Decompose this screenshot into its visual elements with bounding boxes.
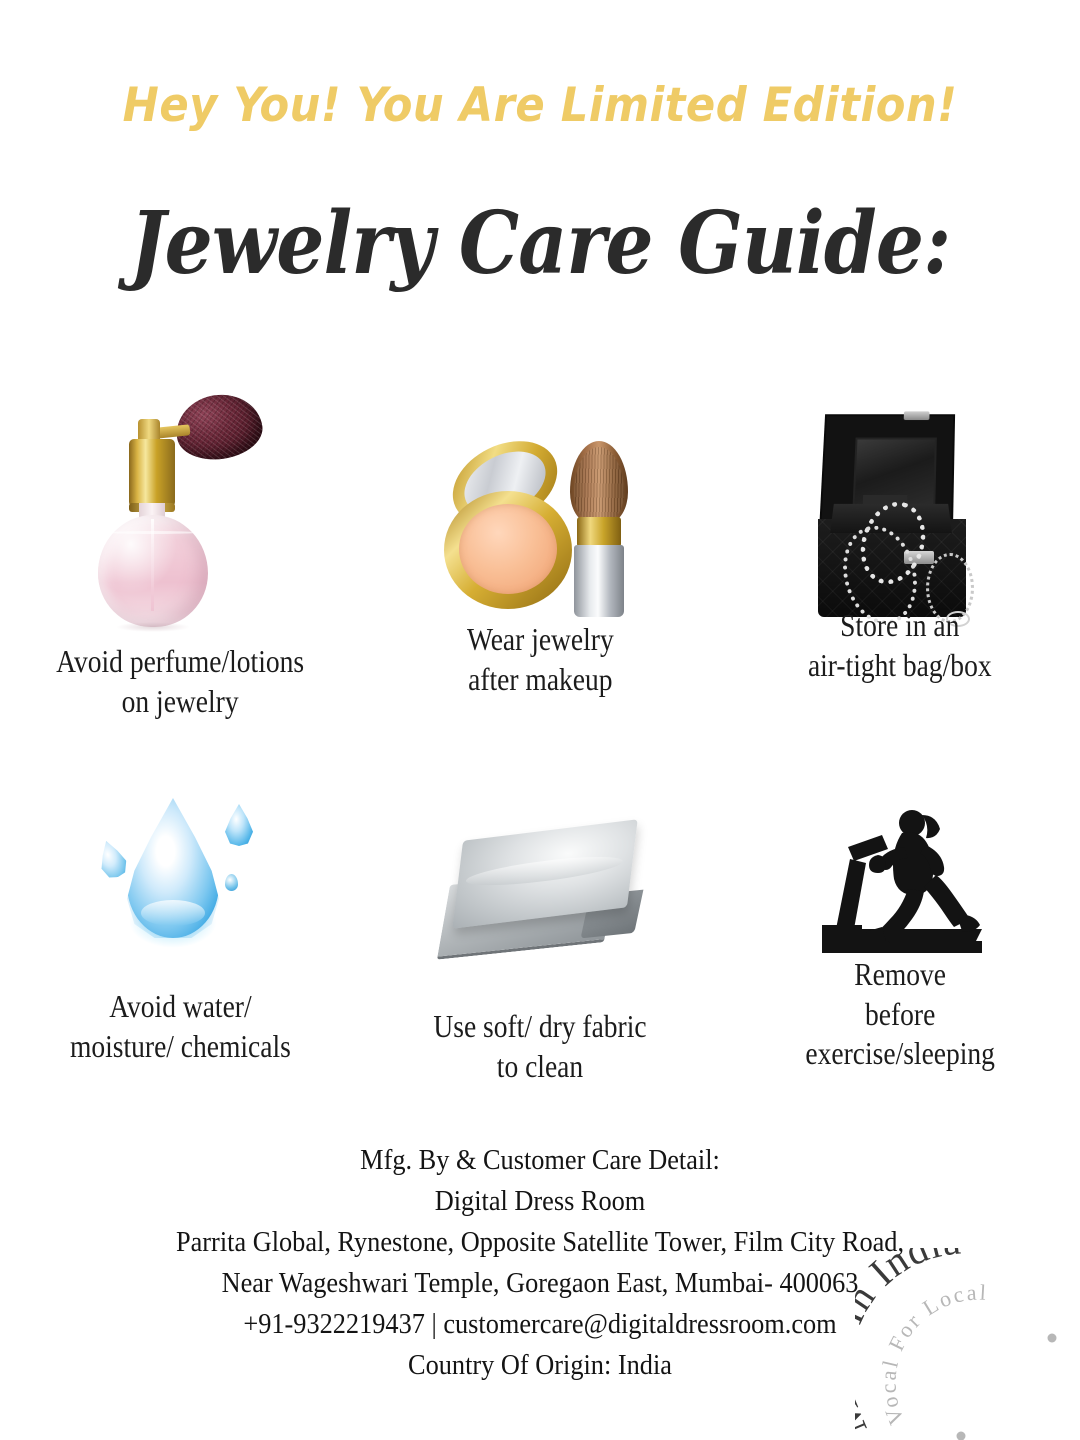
made-in-india-badge: Made In India Vocal For Local: [855, 1248, 1080, 1440]
compact-base: [444, 491, 572, 609]
brush-bristles: [570, 441, 628, 523]
treadmill-icon-wrap: [808, 788, 993, 963]
page-title: Jewelry Care Guide:: [65, 193, 1015, 294]
makeup-icon-wrap: [440, 378, 640, 628]
tip-card-exercise: Remove before exercise/sleeping: [720, 788, 1080, 1088]
water-droplet-small-3: [225, 874, 238, 891]
cloth-icon-wrap: [435, 788, 645, 963]
brush-gold-ferrule: [577, 517, 621, 547]
tip-card-water: Avoid water/ moisture/ chemicals: [0, 788, 360, 1088]
tip-caption: Avoid perfume/lotions on jewelry: [56, 642, 304, 721]
perfume-icon-wrap: [90, 378, 270, 628]
badge-dot-bottom: [957, 1432, 966, 1440]
water-icon-wrap: [85, 788, 275, 963]
jewelry-box-top-clasp: [904, 411, 930, 420]
makeup-brush-icon: [568, 441, 630, 616]
care-guide-poster: Hey You! You Are Limited Edition! Jewelr…: [0, 0, 1080, 1440]
brush-handle: [574, 545, 624, 617]
water-drop-main: [127, 798, 219, 938]
perfume-shadow: [116, 622, 190, 632]
tip-caption: Avoid water/ moisture/ chemicals: [70, 987, 291, 1066]
perfume-gold-collar: [129, 439, 175, 507]
svg-text:Vocal For Local: Vocal For Local: [875, 1279, 989, 1428]
tip-caption: Remove before exercise/sleeping: [805, 955, 994, 1074]
jewelry-box-icon: [800, 413, 1000, 628]
tip-card-cloth: Use soft/ dry fabric to clean: [360, 788, 720, 1088]
perfume-bottle-icon: [90, 393, 270, 628]
footer-line-mfg: Mfg. By & Customer Care Detail:: [32, 1140, 1047, 1181]
tip-caption: Wear jewelry after makeup: [467, 620, 614, 699]
badge-dot-right: [1048, 1334, 1057, 1343]
jewelry-box-icon-wrap: [800, 378, 1000, 628]
tip-caption: Store in an air-tight bag/box: [808, 606, 992, 685]
footer-line-company: Digital Dress Room: [32, 1181, 1047, 1222]
cleaning-cloth-icon: [435, 823, 645, 963]
water-droplet-small-2: [94, 837, 130, 881]
tips-row-2: Avoid water/ moisture/ chemicals Use sof…: [0, 788, 1080, 1088]
tip-card-perfume: Avoid perfume/lotions on jewelry: [0, 378, 360, 748]
water-droplet-small-1: [225, 804, 253, 846]
compact-powder-pan: [459, 504, 557, 594]
water-drop-icon: [85, 788, 275, 963]
perfume-glass-body: [98, 515, 208, 627]
tip-card-storage: Store in an air-tight bag/box: [720, 378, 1080, 748]
badge-inner-text: Vocal For Local: [875, 1279, 989, 1428]
tip-card-makeup: Wear jewelry after makeup: [360, 378, 720, 748]
makeup-compact-brush-icon: [440, 433, 640, 628]
tips-row-1: Avoid perfume/lotions on jewelry: [0, 378, 1080, 748]
treadmill-runner-icon: [808, 803, 993, 963]
tip-caption: Use soft/ dry fabric to clean: [433, 1007, 646, 1086]
tagline: Hey You! You Are Limited Edition!: [43, 78, 1037, 133]
